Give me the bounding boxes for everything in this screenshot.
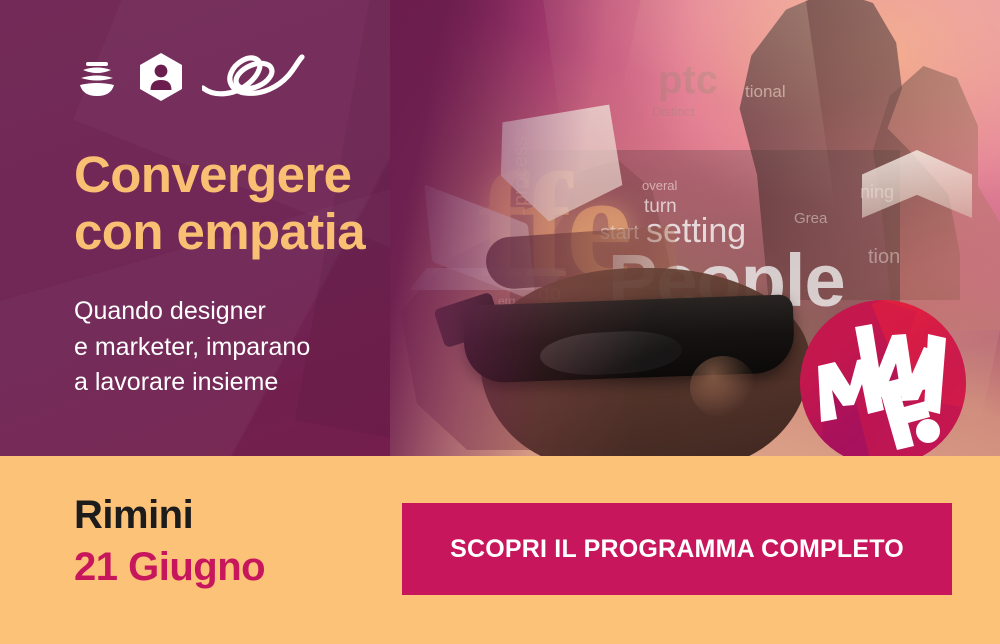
cta-button-label: SCOPRI IL PROGRAMMA COMPLETO — [450, 535, 904, 564]
hexagon-person-icon — [138, 52, 184, 107]
event-location: Rimini — [74, 494, 193, 536]
subtitle: Quando designer e marketer, imparano a l… — [74, 294, 310, 401]
subtitle-line-2: e marketer, imparano — [74, 330, 310, 366]
headline-line-2: con empatia — [74, 203, 365, 260]
subtitle-line-1: Quando designer — [74, 294, 310, 330]
swirl-loop-icon — [202, 54, 306, 105]
wmf-wordmark-icon — [800, 300, 966, 466]
event-date: 21 Giugno — [74, 546, 265, 588]
page-title: Convergere con empatia — [74, 146, 365, 260]
headline-line-1: Convergere — [74, 146, 351, 203]
discover-program-button[interactable]: SCOPRI IL PROGRAMMA COMPLETO — [402, 503, 952, 595]
brand-logo-row — [74, 52, 306, 107]
event-promo-banner: ptc Distinct tional ffe process overal t… — [0, 0, 1000, 644]
stacked-bowl-icon — [74, 54, 120, 105]
wmf-logo-badge[interactable] — [800, 300, 966, 466]
subtitle-line-3: a lavorare insieme — [74, 365, 310, 401]
